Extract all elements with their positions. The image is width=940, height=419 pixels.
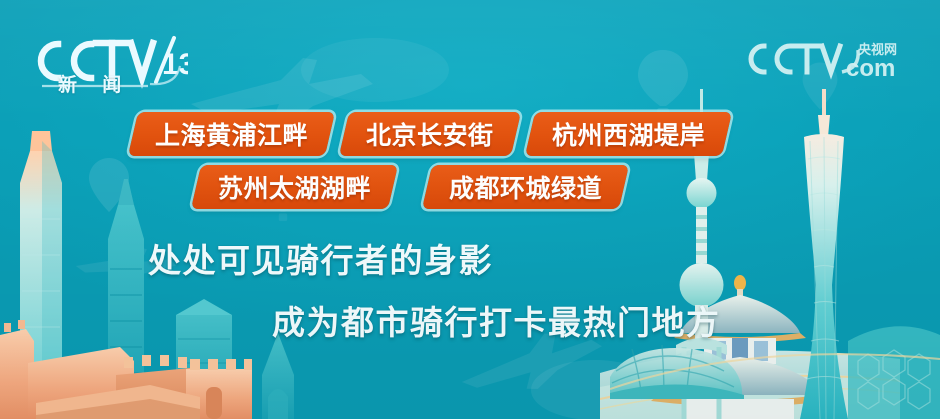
svg-text:央视网: 央视网 xyxy=(858,42,897,57)
location-tag[interactable]: 成都环城绿道 xyxy=(422,165,629,209)
location-tag[interactable]: 北京长安街 xyxy=(339,112,521,156)
cctv-com-watermark: com 央视网 xyxy=(742,38,922,82)
headline-line-2: 成为都市骑行打卡最热门地方 xyxy=(0,296,940,344)
headline-line-1: 处处可见骑行者的身影 xyxy=(0,234,940,282)
headline-block: 处处可见骑行者的身影 成为都市骑行打卡最热门地方 xyxy=(0,234,940,344)
broadcast-graphic: 13 新 闻 com 央视网 上海黄浦江畔 xyxy=(0,0,940,419)
location-tag[interactable]: 杭州西湖堤岸 xyxy=(524,112,731,156)
location-tag-list: 上海黄浦江畔 北京长安街 杭州西湖堤岸 苏州太湖湖畔 成都环城绿道 xyxy=(0,112,940,218)
location-tag-label: 上海黄浦江畔 xyxy=(155,116,308,152)
location-tag-row-2: 苏州太湖湖畔 成都环城绿道 xyxy=(0,165,940,209)
location-tag[interactable]: 苏州太湖湖畔 xyxy=(191,165,398,209)
location-tag-label: 苏州太湖湖畔 xyxy=(218,169,371,205)
location-tag-label: 北京长安街 xyxy=(366,116,494,152)
location-tag[interactable]: 上海黄浦江畔 xyxy=(128,112,335,156)
cctv13-logo-subtitle: 新 闻 xyxy=(58,70,131,97)
location-tag-label: 成都环城绿道 xyxy=(449,169,602,205)
svg-text:com: com xyxy=(846,55,895,82)
location-tag-label: 杭州西湖堤岸 xyxy=(552,116,705,152)
location-tag-row-1: 上海黄浦江畔 北京长安街 杭州西湖堤岸 xyxy=(0,112,940,156)
